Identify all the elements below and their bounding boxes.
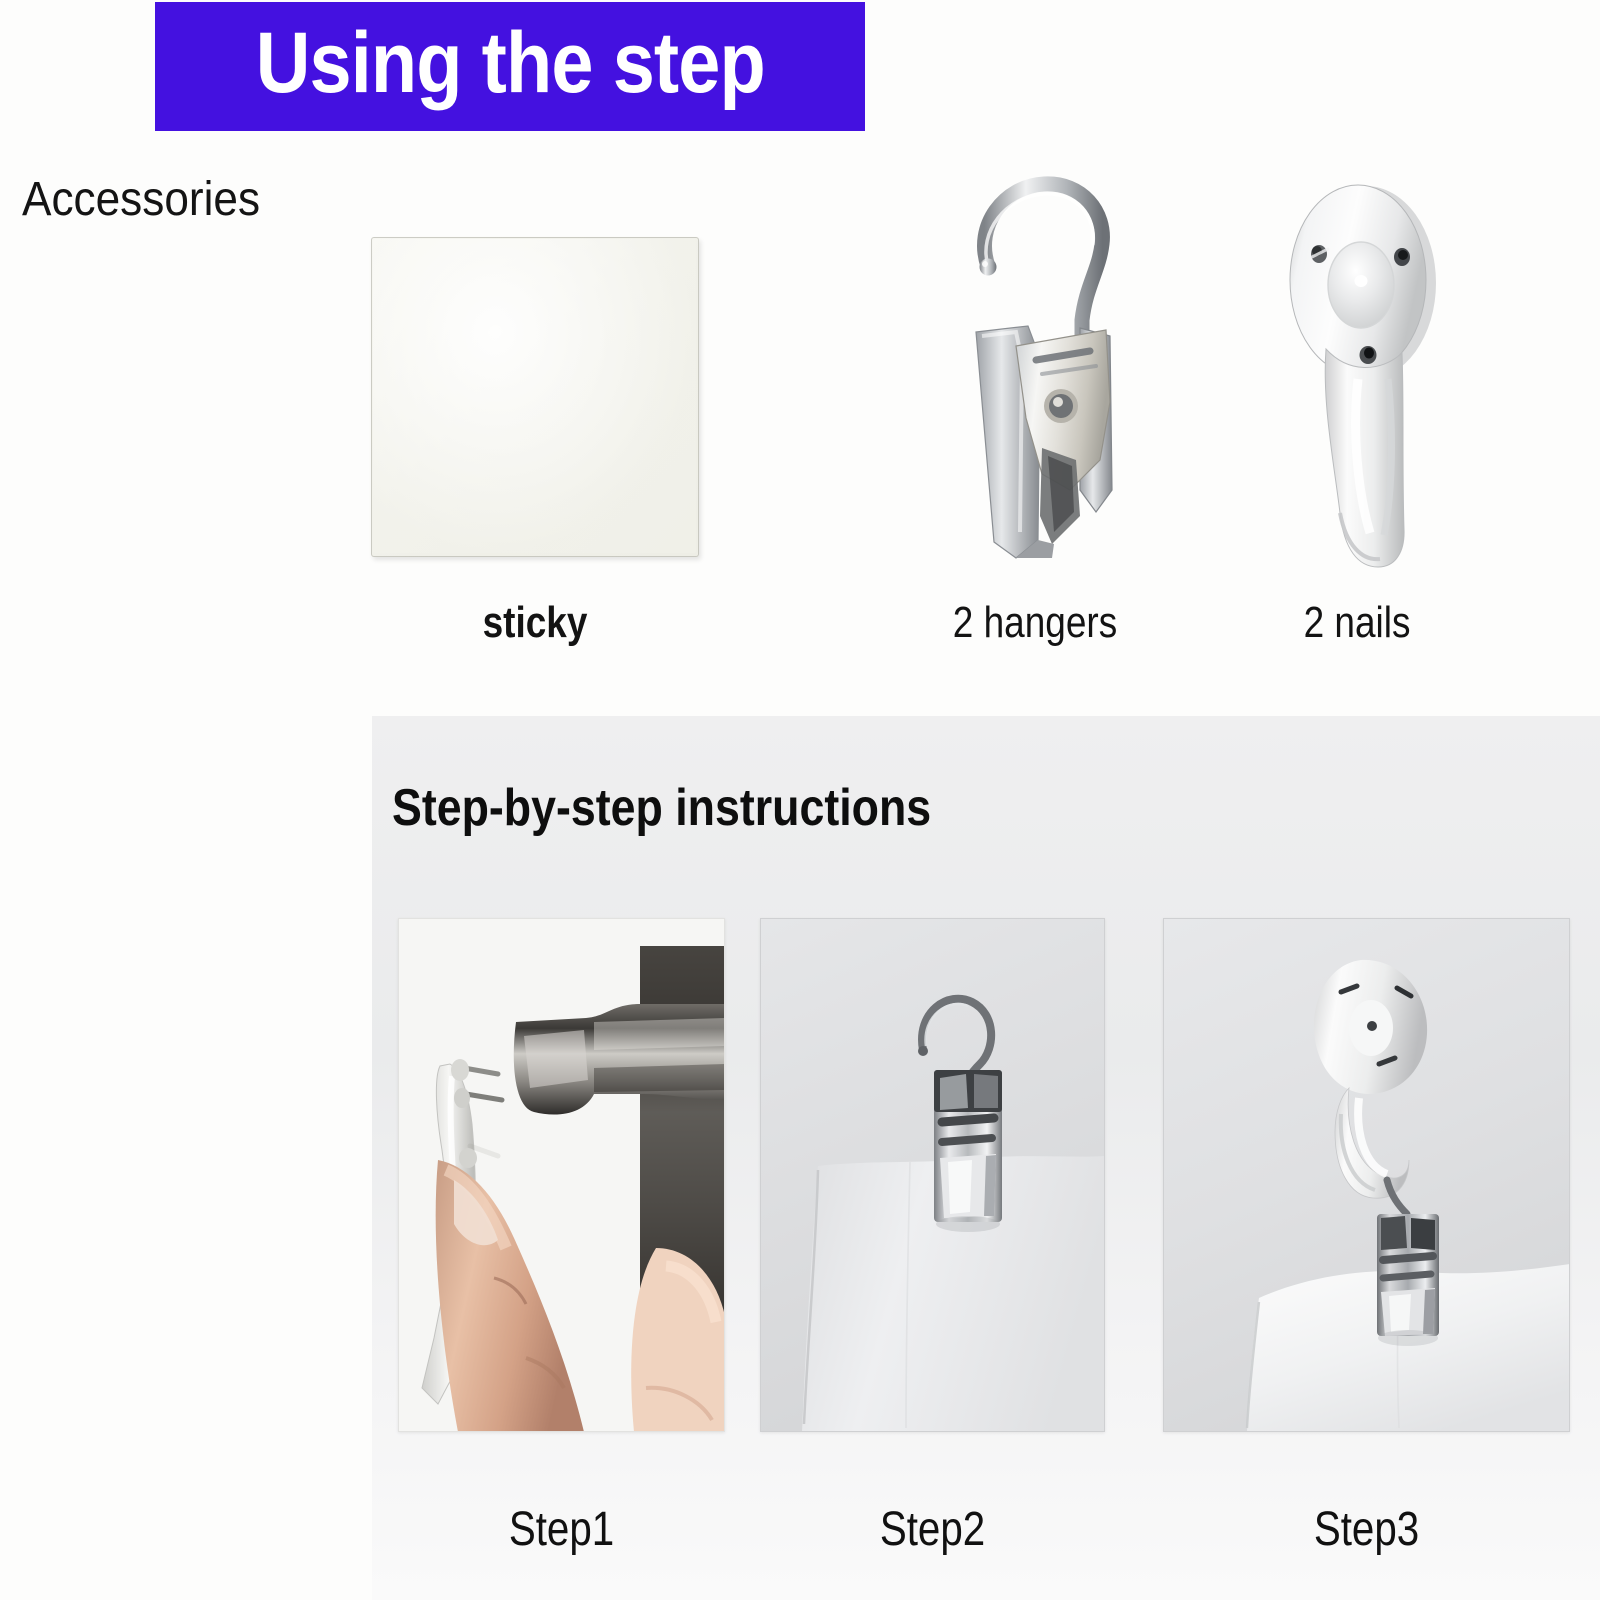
accessory-label-sticky: sticky xyxy=(397,598,673,648)
step-3-photo xyxy=(1163,918,1570,1432)
adhesive-pad-icon xyxy=(371,237,699,557)
step-2-photo xyxy=(760,918,1105,1432)
page-title: Using the step xyxy=(255,20,764,114)
plastic-wall-hook-icon xyxy=(1262,163,1452,578)
accessories-heading: Accessories xyxy=(22,172,260,227)
accessory-label-nails: 2 nails xyxy=(1277,598,1437,648)
step-1-photo xyxy=(398,918,725,1432)
step-label-3: Step3 xyxy=(1196,1502,1538,1557)
step-label-2: Step2 xyxy=(788,1502,1078,1557)
step-label-1: Step1 xyxy=(424,1502,699,1557)
title-banner: Using the step xyxy=(155,2,865,131)
metal-clip-hanger-icon xyxy=(930,160,1140,560)
accessory-label-hangers: 2 hangers xyxy=(947,598,1123,648)
infographic-page: Using the step Accessories sticky xyxy=(0,0,1600,1600)
instructions-heading: Step-by-step instructions xyxy=(392,778,931,838)
